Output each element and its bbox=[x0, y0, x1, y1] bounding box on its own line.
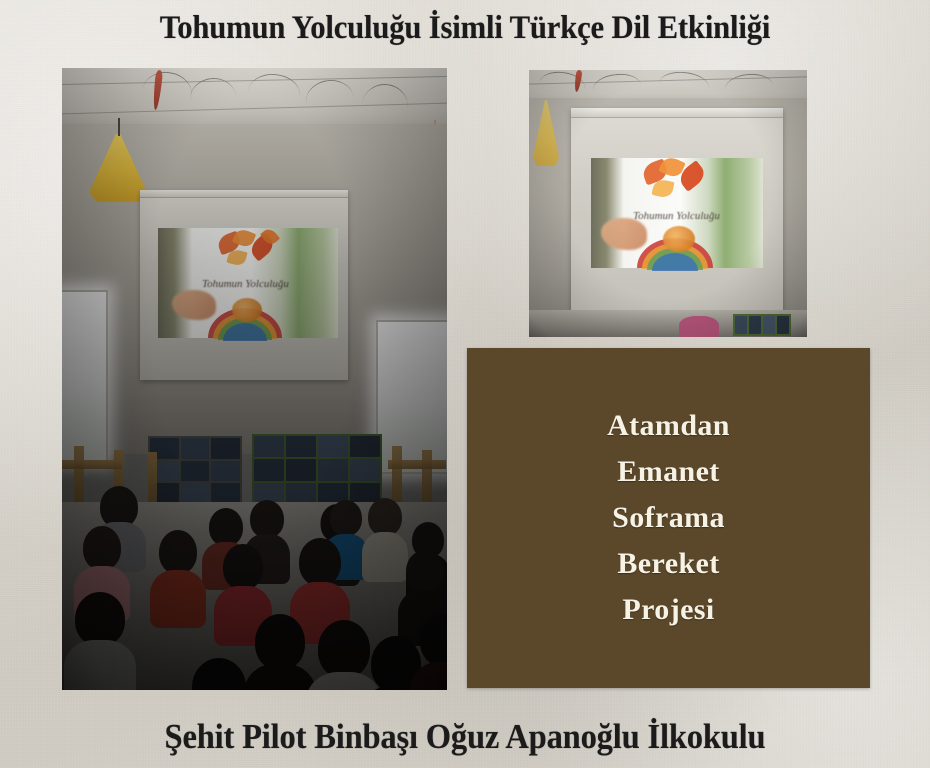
page-title-top: Tohumun Yolculuğu İsimli Türkçe Dil Etki… bbox=[33, 4, 898, 52]
page-title-bottom: Şehit Pilot Binbaşı Oğuz Apanoğlu İlkoku… bbox=[33, 712, 898, 762]
project-line-4: Bereket bbox=[617, 541, 719, 587]
poster-canvas: Tohumun Yolculuğu İsimli Türkçe Dil Etki… bbox=[0, 0, 930, 768]
slide-book-title: Tohumun Yolculuğu bbox=[633, 210, 720, 222]
projected-slide-area: Tohumun Yolculuğu bbox=[591, 158, 763, 268]
pumpkin-illustration bbox=[663, 226, 695, 252]
storage-bin bbox=[777, 316, 789, 334]
projector-screen-roller bbox=[571, 108, 783, 118]
project-title-box: Atamdan Emanet Soframa Bereket Projesi bbox=[467, 348, 870, 688]
projector-screen: Tohumun Yolculuğu bbox=[571, 108, 783, 326]
classroom-scene-closeup: Tohumun Yolculuğu bbox=[529, 70, 807, 337]
hand-illustration bbox=[601, 218, 647, 250]
photo-projection-closeup: Tohumun Yolculuğu bbox=[529, 70, 807, 337]
storage-shelf-unit bbox=[733, 314, 791, 336]
storage-bin bbox=[749, 316, 761, 334]
classroom-scene-wide: Tohumun Yolculuğu bbox=[62, 68, 447, 690]
photo-classroom-wide: Tohumun Yolculuğu bbox=[62, 68, 447, 690]
project-line-3: Soframa bbox=[612, 495, 725, 541]
storage-bin bbox=[735, 316, 747, 334]
project-line-5: Projesi bbox=[622, 587, 714, 633]
project-line-2: Emanet bbox=[617, 449, 719, 495]
toy-objects bbox=[679, 316, 719, 337]
slide-image: Tohumun Yolculuğu bbox=[591, 158, 763, 268]
photo-shadow-gradient bbox=[62, 68, 447, 690]
storage-bin bbox=[763, 316, 775, 334]
project-line-1: Atamdan bbox=[607, 403, 730, 449]
toy-body bbox=[679, 316, 719, 337]
